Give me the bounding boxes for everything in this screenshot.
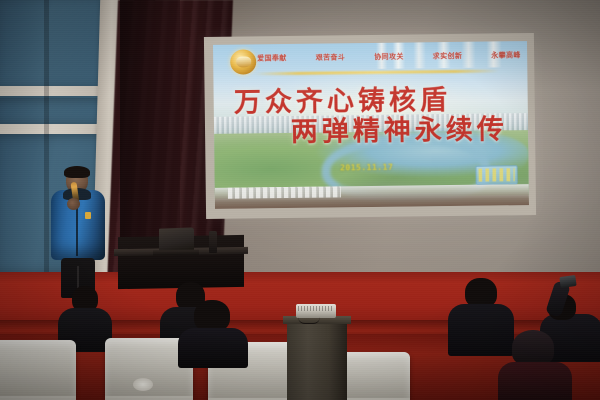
- attendee-shoulders: [178, 328, 248, 368]
- attendee-head: [512, 330, 554, 366]
- projected-slide: 爱国奉献 艰苦奋斗 协同攻关 求实创新 永攀高峰 万众齐心铸核盾 两弹精神永续传…: [213, 41, 529, 209]
- projector-vents: [298, 306, 334, 311]
- laptop-base: [153, 250, 199, 256]
- attendee-shoulders: [498, 362, 572, 400]
- slide-date-stamp: 2015.11.17: [340, 162, 393, 172]
- acoustic-panel-gap: [0, 86, 104, 96]
- chair-skirt: [105, 396, 193, 400]
- presenter-hair: [64, 166, 90, 178]
- projection-screen: 爱国奉献 艰苦奋斗 协同攻关 求实创新 永攀高峰 万众齐心铸核盾 两弹精神永续传…: [204, 33, 536, 219]
- attendee-front-left: [178, 300, 248, 362]
- slide-headline-line-2: 两弹精神永续传: [242, 106, 529, 149]
- attendee-front-right: [498, 330, 572, 400]
- slide-slogan-4: 求实创新: [433, 51, 463, 61]
- slide-slogan-1: 爱国奉献: [257, 53, 287, 63]
- acoustic-panel: [0, 98, 104, 126]
- bottle-icon: [209, 231, 217, 253]
- acoustic-panel: [0, 0, 104, 90]
- slide-corner-badge-icon: [476, 165, 518, 185]
- slide-slogan-5: 永攀高峰: [491, 50, 521, 60]
- projector-pedestal: [287, 322, 347, 400]
- chair-1: [0, 340, 76, 398]
- chair-bow: [133, 378, 153, 391]
- projector-cable: [298, 317, 320, 324]
- phone-icon: [559, 275, 576, 288]
- acoustic-panel-gap: [0, 124, 104, 134]
- slide-slogan-2: 艰苦奋斗: [316, 52, 346, 62]
- chair-skirt: [0, 396, 76, 400]
- photo-scene: 爱国奉献 艰苦奋斗 协同攻关 求实创新 永攀高峰 万众齐心铸核盾 两弹精神永续传…: [0, 0, 600, 400]
- presenter-jacket-badge: [85, 212, 91, 219]
- slide-slogan-3: 协同攻关: [374, 52, 404, 62]
- presenter: [49, 168, 109, 296]
- presenter-hand: [67, 198, 80, 210]
- slide-foreground-buildings: [227, 186, 340, 199]
